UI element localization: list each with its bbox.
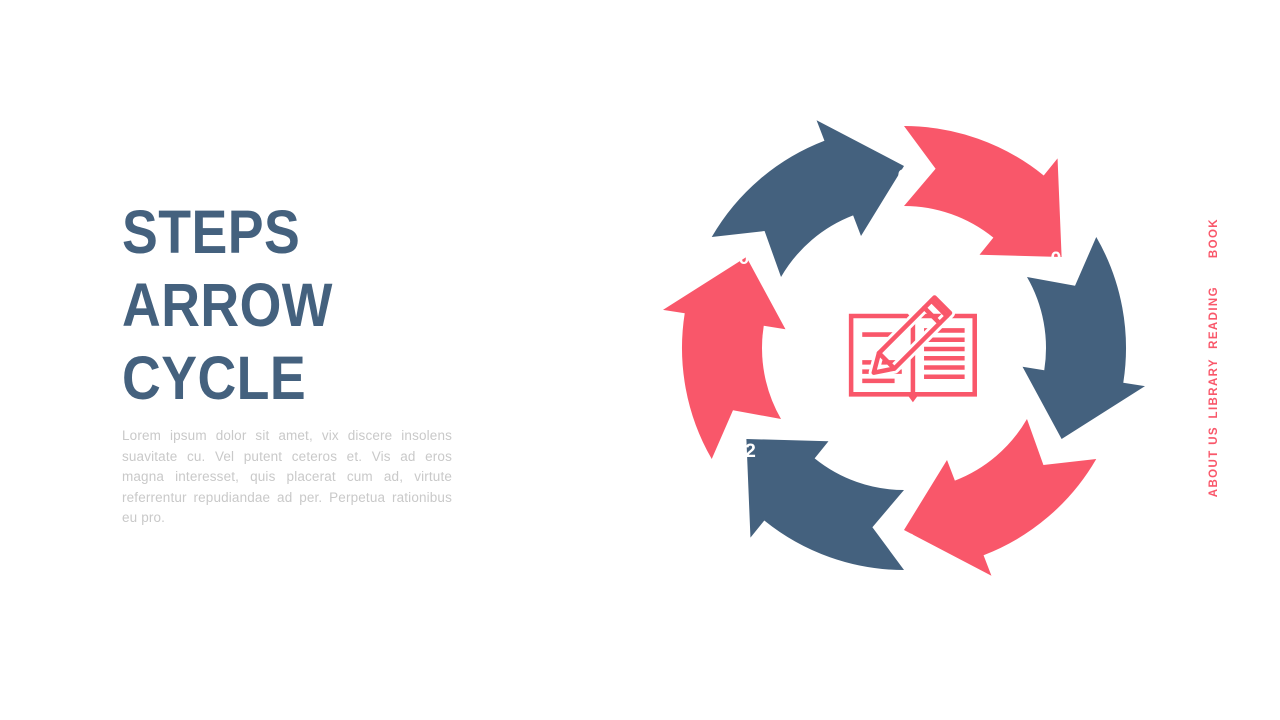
cycle-step-label-06: 06 — [898, 166, 921, 188]
steps-arrow-cycle-diagram: 010203040506 — [660, 98, 1160, 608]
body-paragraph: Lorem ipsum dolor sit amet, vix discere … — [122, 426, 452, 529]
page-title: STEPS ARROW CYCLE — [122, 196, 439, 415]
slide-canvas: STEPS ARROW CYCLE Lorem ipsum dolor sit … — [0, 0, 1280, 720]
nav-item-reading[interactable]: READING — [1208, 286, 1242, 349]
cycle-svg: 010203040506 — [660, 98, 1160, 608]
cycle-step-label-04: 04 — [1054, 436, 1077, 458]
cycle-step-label-02: 02 — [734, 440, 757, 462]
left-text-panel: STEPS ARROW CYCLE — [122, 196, 482, 415]
vertical-nav: BOOK READING LIBRARY ABOUT US — [1208, 218, 1242, 508]
nav-item-about-us[interactable]: ABOUT US — [1208, 426, 1242, 497]
cycle-arrow-group — [663, 120, 1145, 576]
book-pencil-icon — [851, 297, 975, 398]
cycle-arrow-01[interactable] — [746, 439, 904, 570]
cycle-arrow-05[interactable] — [1023, 237, 1145, 439]
cycle-step-label-01: 01 — [739, 247, 762, 269]
cycle-step-label-03: 03 — [893, 530, 916, 552]
cycle-step-label-05: 05 — [1051, 248, 1074, 270]
nav-item-book[interactable]: BOOK — [1208, 218, 1242, 258]
cycle-arrow-02[interactable] — [663, 257, 785, 459]
cycle-arrow-04[interactable] — [904, 126, 1062, 257]
nav-item-library[interactable]: LIBRARY — [1208, 358, 1242, 418]
